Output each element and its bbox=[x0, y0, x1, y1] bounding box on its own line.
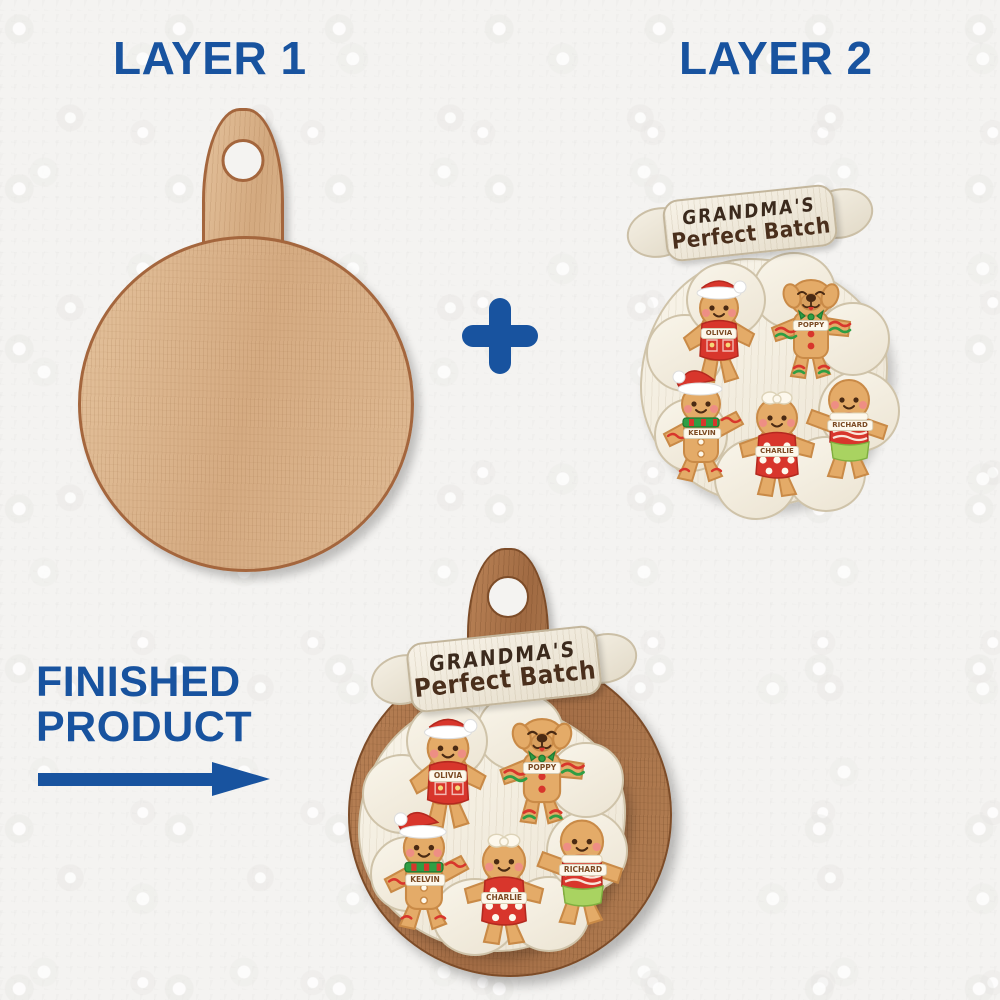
gingerbread-name-tag: POPPY bbox=[523, 762, 561, 774]
board-hang-hole bbox=[222, 139, 265, 182]
layer-1-label: LAYER 1 bbox=[113, 34, 307, 82]
plus-icon bbox=[462, 298, 538, 374]
arrow-head bbox=[212, 762, 270, 796]
finished-product-label-line1: FINISHED bbox=[36, 660, 252, 705]
board-round-surface bbox=[78, 236, 414, 572]
gingerbread-name-tag: KELVIN bbox=[683, 428, 721, 439]
gingerbread-name-tag: RICHARD bbox=[559, 864, 607, 876]
layer2-cloud-plaque: OLIVIA bbox=[640, 258, 888, 506]
gingerbread-name-tag: OLIVIA bbox=[429, 770, 467, 782]
gingerbread-figure-poppy: POPPY bbox=[492, 710, 592, 826]
gingerbread-figure-richard: RICHARD bbox=[804, 370, 896, 480]
gingerbread-name-tag: OLIVIA bbox=[701, 328, 737, 339]
gingerbread-figure-poppy: POPPY bbox=[764, 272, 858, 380]
gingerbread-name-tag: CHARLIE bbox=[755, 446, 799, 457]
rolling-pin-body: GRANDMA'S Perfect Batch bbox=[661, 183, 839, 263]
gingerbread-name-tag: POPPY bbox=[793, 320, 829, 331]
gingerbread-name-tag: RICHARD bbox=[827, 420, 873, 431]
arrow-shaft bbox=[38, 773, 218, 786]
layer1-cutting-board bbox=[78, 108, 408, 538]
gingerbread-name-tag: CHARLIE bbox=[481, 892, 527, 904]
plus-icon-vertical-bar bbox=[489, 298, 511, 374]
layer2-rolling-pin-sign: GRANDMA'S Perfect Batch bbox=[625, 179, 874, 266]
layer-2-label: LAYER 2 bbox=[679, 34, 873, 82]
finished-product-label: FINISHED PRODUCT bbox=[36, 660, 252, 750]
gingerbread-name-tag: KELVIN bbox=[405, 874, 445, 886]
finished-product-cloud-plaque: OLIVIA bbox=[358, 700, 626, 952]
gingerbread-figure-richard: RICHARD bbox=[534, 810, 632, 926]
board-hang-hole bbox=[487, 576, 529, 618]
arrow-right-icon bbox=[38, 762, 270, 796]
gingerbread-figure-olivia: OLIVIA bbox=[676, 280, 762, 384]
finished-product-label-line2: PRODUCT bbox=[36, 705, 252, 750]
